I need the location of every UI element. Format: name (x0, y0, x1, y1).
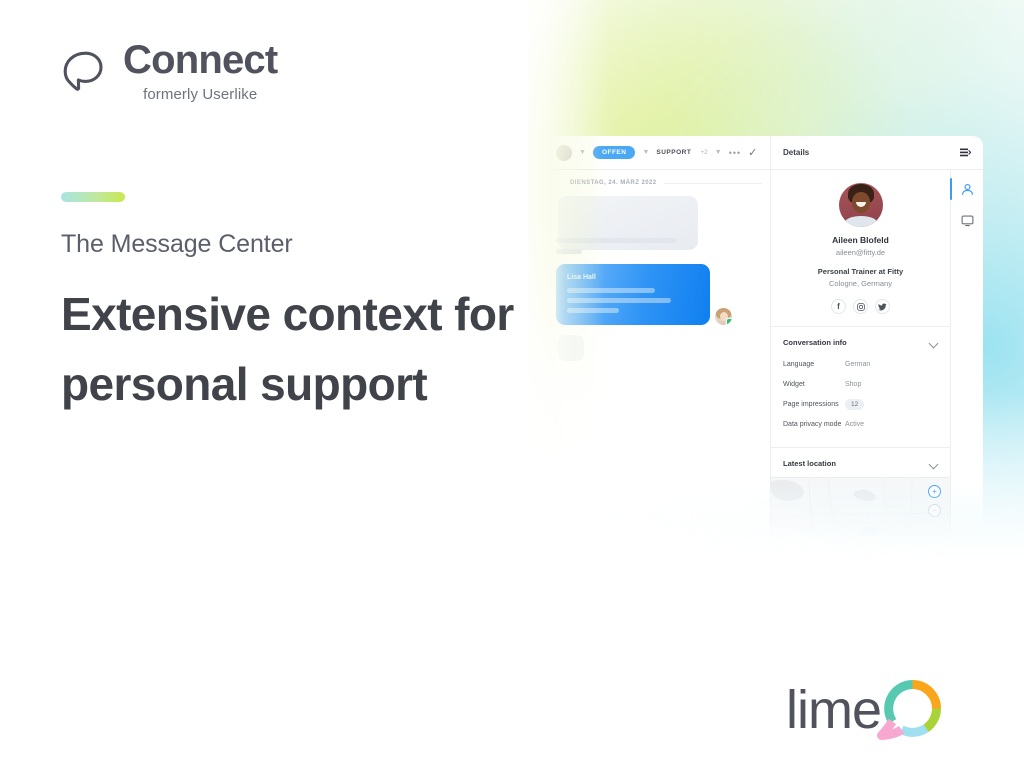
incoming-message-bubble (558, 335, 584, 361)
details-tab-rail (950, 170, 983, 540)
twitter-icon[interactable] (875, 299, 890, 314)
social-links: f (781, 299, 940, 314)
message-skeleton-line (556, 238, 676, 243)
brand-tagline: formerly Userlike (123, 86, 277, 103)
contact-name: Aileen Blofeld (781, 235, 940, 245)
contact-email[interactable]: aileen@fitty.de (781, 248, 940, 257)
check-icon[interactable]: ✓ (748, 146, 757, 159)
section-title: Conversation info (783, 338, 847, 347)
outgoing-message-row: Lisa Hall (556, 264, 762, 325)
brand-name: Connect (123, 40, 277, 80)
section-title: Latest location (783, 459, 836, 468)
speech-bubble-icon (61, 49, 107, 95)
chat-tab-icon[interactable] (958, 211, 976, 229)
message-author: Lisa Hall (567, 274, 699, 281)
message-skeleton-line (567, 298, 671, 303)
info-value: Active (845, 421, 864, 428)
outgoing-message-bubble: Lisa Hall (556, 264, 710, 325)
chevron-down-icon[interactable]: ▼ (642, 149, 649, 156)
info-key: Page impressions (783, 401, 845, 408)
contact-photo (839, 183, 883, 227)
lime-wordmark: lime (786, 683, 881, 737)
divider-line (664, 183, 762, 184)
date-divider-label: DIENSTAG, 24. MÄRZ 2022 (570, 180, 657, 186)
contact-role: Personal Trainer at Fitty (781, 267, 940, 276)
accent-bar (61, 192, 125, 202)
ellipsis-icon[interactable]: ••• (729, 148, 741, 158)
instagram-icon[interactable] (853, 299, 868, 314)
latest-location-section: Latest location (771, 448, 950, 478)
info-key: Language (783, 361, 845, 368)
conversation-pane: ▼ OFFEN ▼ SUPPORT +2 ▼ ••• ✓ DIENSTAG, 2… (548, 136, 770, 540)
status-badge[interactable]: OFFEN (593, 146, 636, 159)
message-skeleton-line (567, 288, 655, 293)
location-map[interactable]: + − (771, 478, 950, 540)
lime-logo: lime (786, 678, 949, 742)
eyebrow-text: The Message Center (61, 230, 293, 259)
message-skeleton-line (567, 308, 619, 313)
slide-canvas: Connect formerly Userlike The Message Ce… (0, 0, 1024, 768)
conversation-info-section: Conversation info Language German Widget (771, 327, 950, 448)
zoom-in-icon[interactable]: + (928, 485, 941, 498)
details-header: Details (771, 136, 983, 170)
info-value: Shop (845, 381, 861, 388)
details-pane: Details (770, 136, 983, 540)
contact-tab-icon[interactable] (958, 180, 976, 198)
chevron-down-icon[interactable] (930, 340, 938, 345)
info-row: Widget Shop (783, 376, 938, 392)
facebook-icon[interactable]: f (831, 299, 846, 314)
lime-bubble-icon (875, 678, 949, 742)
page-title: Extensive context for personal support (61, 280, 531, 420)
message-list: DIENSTAG, 24. MÄRZ 2022 Lisa Hall (548, 170, 770, 540)
info-row: Data privacy mode Active (783, 416, 938, 432)
conversation-info-rows: Language German Widget Shop Page impress… (771, 356, 950, 447)
details-scroll-area[interactable]: Aileen Blofeld aileen@fitty.de Personal … (771, 170, 950, 540)
info-key: Data privacy mode (783, 421, 845, 428)
online-status-dot (727, 319, 732, 325)
date-divider: DIENSTAG, 24. MÄRZ 2022 (548, 180, 762, 186)
active-tab-indicator (950, 178, 952, 200)
contact-profile-card: Aileen Blofeld aileen@fitty.de Personal … (771, 170, 950, 327)
message-skeleton-line (556, 249, 582, 254)
details-title: Details (783, 148, 809, 157)
app-mockup-card: ▼ OFFEN ▼ SUPPORT +2 ▼ ••• ✓ DIENSTAG, 2… (548, 136, 983, 540)
chevron-down-icon[interactable]: ▼ (715, 149, 722, 156)
info-row: Page impressions 12 (783, 396, 938, 412)
info-key: Widget (783, 381, 845, 388)
page-impressions-badge: 12 (845, 399, 864, 410)
latest-location-header[interactable]: Latest location (771, 448, 950, 477)
info-row: Language German (783, 356, 938, 372)
zoom-out-icon[interactable]: − (928, 504, 941, 517)
conversation-toolbar: ▼ OFFEN ▼ SUPPORT +2 ▼ ••• ✓ (548, 136, 770, 170)
chevron-down-icon[interactable]: ▼ (579, 149, 586, 156)
connect-logo: Connect formerly Userlike (61, 40, 277, 103)
avatar (715, 308, 732, 325)
group-label[interactable]: SUPPORT (656, 149, 691, 156)
user-avatar-icon[interactable] (556, 145, 572, 161)
conversation-info-header[interactable]: Conversation info (771, 327, 950, 356)
contact-location: Cologne, Germany (781, 279, 940, 288)
info-value: German (845, 361, 870, 368)
panel-collapse-icon[interactable] (960, 144, 971, 162)
chevron-down-icon[interactable] (930, 461, 938, 466)
group-extra-count: +2 (700, 149, 707, 156)
